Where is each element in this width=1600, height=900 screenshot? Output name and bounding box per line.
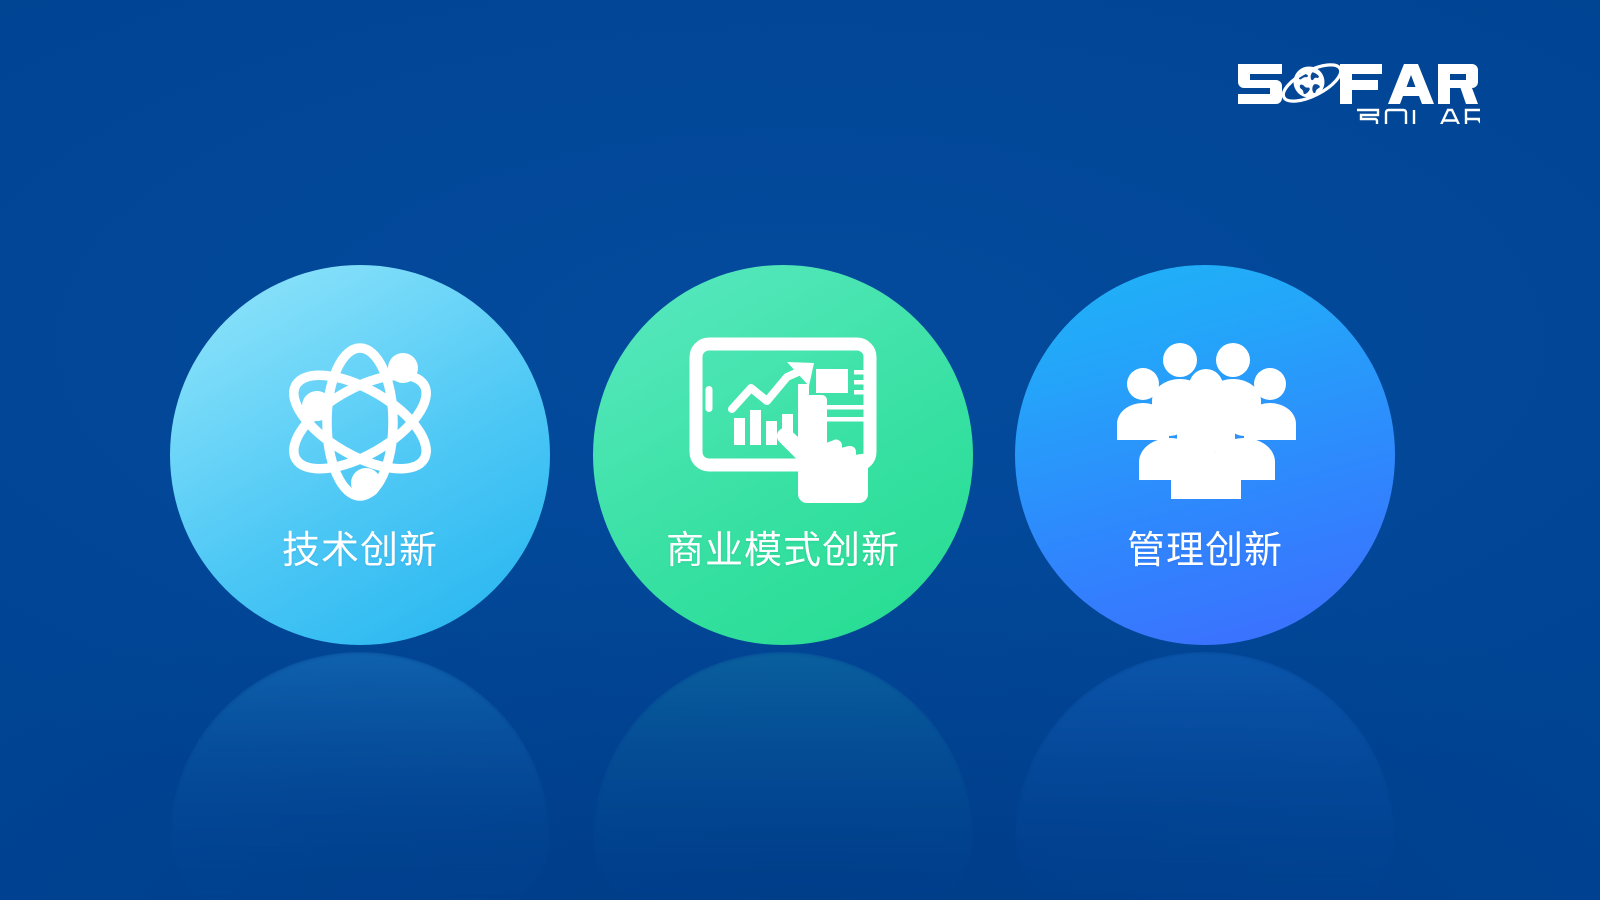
card-label-business-model-innovation: 商业模式创新	[666, 532, 900, 570]
innovation-cards: 技术创新	[0, 0, 1600, 900]
card-label-management-innovation: 管理创新	[1127, 532, 1283, 570]
card-label-technology-innovation: 技术创新	[282, 532, 438, 570]
card-technology-innovation[interactable]: 技术创新	[170, 265, 550, 645]
tablet-chart-touch-icon	[683, 322, 883, 522]
card-management-innovation[interactable]: 管理创新	[1015, 265, 1395, 645]
slide-canvas: 技术创新	[0, 0, 1600, 900]
logo-tagline	[1356, 110, 1480, 124]
globe-icon	[1278, 58, 1345, 109]
people-crowd-icon	[1105, 322, 1305, 522]
card-business-model-innovation[interactable]: 商业模式创新	[593, 265, 973, 645]
atom-icon	[260, 322, 460, 522]
sofar-solar-logo	[1236, 50, 1480, 124]
